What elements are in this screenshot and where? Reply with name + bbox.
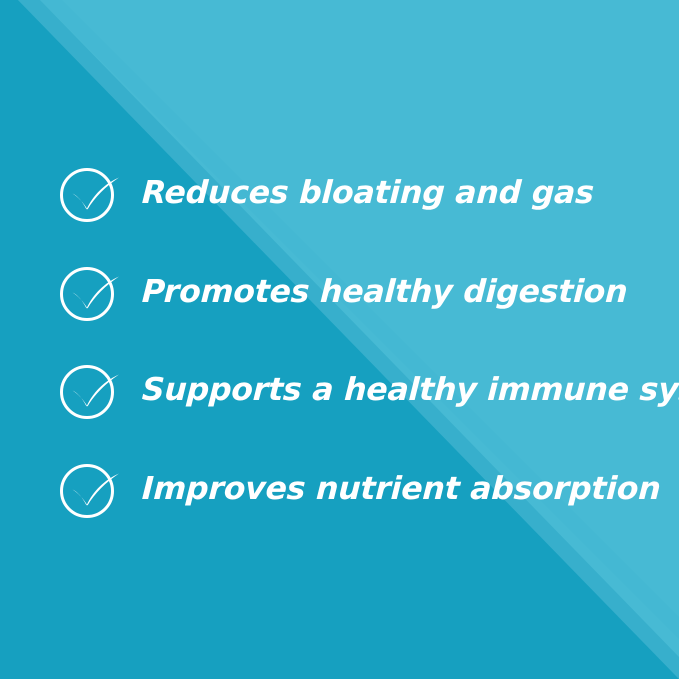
list-item: Supports a healthy immune system	[58, 359, 679, 423]
list-item-label: Improves nutrient absorption	[141, 474, 661, 506]
list-item: Promotes healthy digestion	[58, 261, 627, 325]
list-item: Reduces bloating and gas	[58, 162, 594, 226]
list-item-label: Promotes healthy digestion	[141, 277, 628, 309]
list-item: Improves nutrient absorption	[58, 458, 661, 522]
check-circle-icon	[58, 458, 124, 522]
list-item-label: Reduces bloating and gas	[141, 178, 594, 210]
check-circle-icon	[58, 359, 124, 423]
benefits-list: Reduces bloating and gas Promotes health…	[0, 0, 679, 679]
list-item-label: Supports a healthy immune system	[141, 375, 679, 407]
check-circle-icon	[58, 162, 124, 226]
benefits-poster: Reduces bloating and gas Promotes health…	[0, 0, 679, 679]
check-circle-icon	[58, 261, 124, 325]
